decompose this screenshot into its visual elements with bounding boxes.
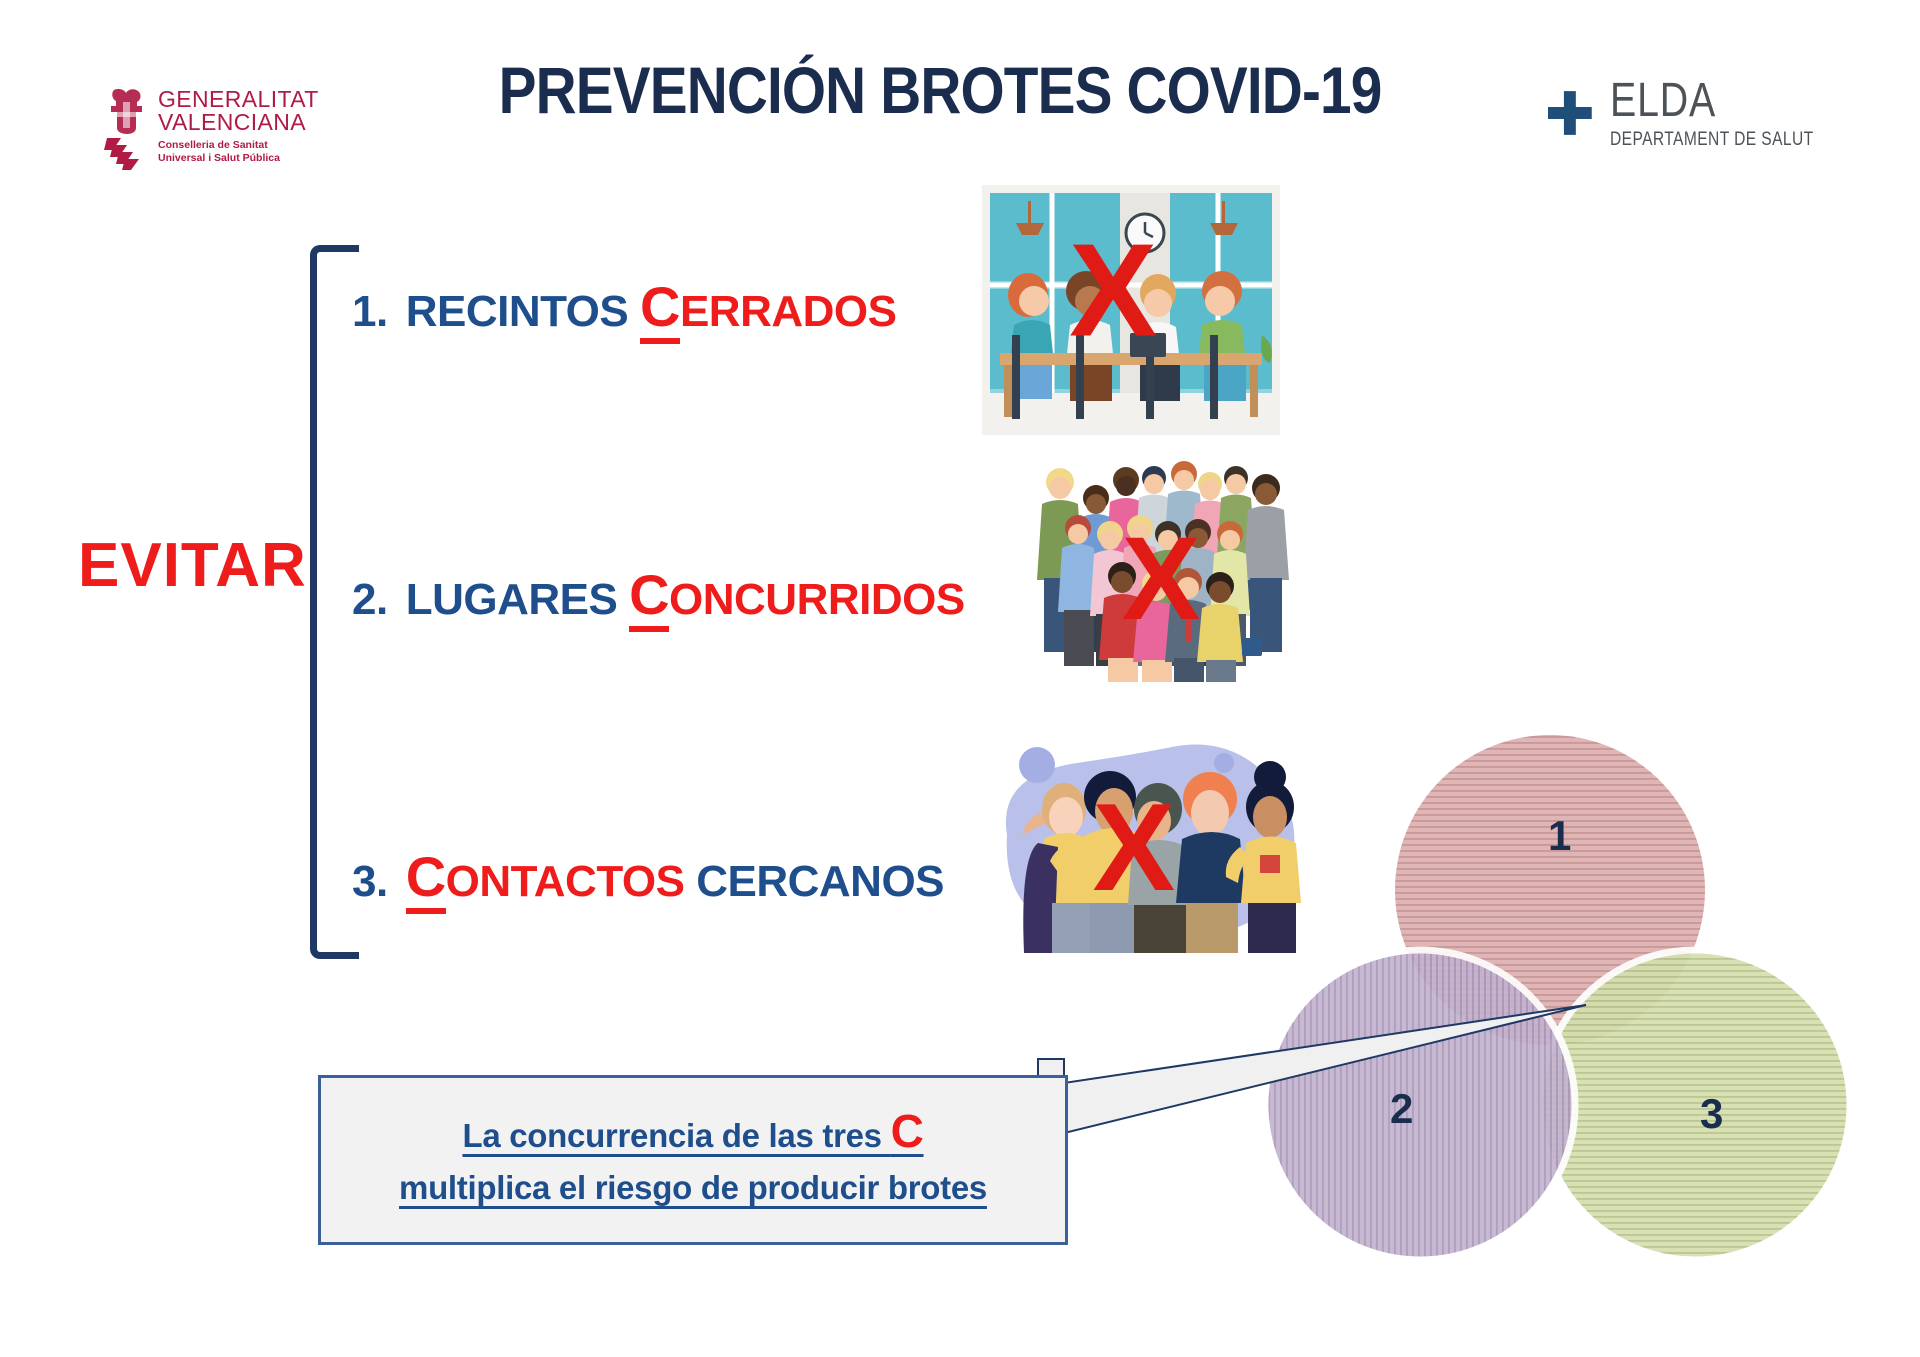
photo-indoor-meeting: X bbox=[982, 185, 1280, 435]
elda-name: ELDA bbox=[1610, 77, 1814, 125]
item-blue-suffix: CERCANOS bbox=[696, 857, 944, 906]
gva-shield-icon bbox=[104, 88, 150, 170]
item-highlight-c: C bbox=[406, 845, 446, 914]
photo-indoor-meeting-illustration bbox=[982, 185, 1280, 435]
venn-label-1: 1 bbox=[1548, 812, 1571, 860]
item-red-rest: ERRADOS bbox=[680, 287, 897, 336]
page-title: PREVENCIÓN BROTES COVID-19 bbox=[476, 52, 1405, 128]
gva-wordmark: GENERALITAT VALENCIANA Conselleria de Sa… bbox=[158, 88, 319, 165]
venn-circle-3 bbox=[1540, 950, 1850, 1260]
venn-label-2: 2 bbox=[1390, 1085, 1413, 1133]
callout-line-2: multiplica el riesgo de producir brotes bbox=[399, 1169, 987, 1207]
generalitat-valenciana-logo: GENERALITAT VALENCIANA Conselleria de Sa… bbox=[104, 88, 334, 178]
photo-crowd: X bbox=[1022, 448, 1300, 686]
venn-diagram bbox=[1240, 690, 1920, 1290]
elda-subtitle: DEPARTAMENT DE SALUT bbox=[1610, 130, 1814, 149]
list-item: 1.RECINTOS CERRADOS bbox=[352, 282, 896, 337]
venn-label-3: 3 bbox=[1700, 1090, 1723, 1138]
venn-circle-2 bbox=[1265, 950, 1575, 1260]
item-highlight-c: C bbox=[640, 275, 680, 344]
evitar-label: EVITAR bbox=[78, 530, 307, 601]
callout-line-1: La concurrencia de las tres C bbox=[462, 1113, 923, 1155]
item-number: 2. bbox=[352, 575, 388, 624]
blue-cross-icon bbox=[1548, 69, 1592, 157]
photo-crowd-illustration bbox=[1022, 448, 1300, 686]
callout-box: La concurrencia de las tres C multiplica… bbox=[318, 1075, 1068, 1245]
gva-subtitle-line-2: Universal i Salut Pública bbox=[158, 152, 319, 165]
item-number: 3. bbox=[352, 857, 388, 906]
item-blue-prefix: LUGARES bbox=[406, 575, 618, 624]
gva-subtitle-line-1: Conselleria de Sanitat bbox=[158, 139, 319, 152]
item-red-rest: ONCURRIDOS bbox=[669, 575, 965, 624]
item-red-rest: ONTACTOS bbox=[446, 857, 685, 906]
item-blue-prefix: RECINTOS bbox=[406, 287, 629, 336]
item-number: 1. bbox=[352, 287, 388, 336]
elda-logo: ELDA DEPARTAMENT DE SALUT bbox=[1548, 58, 1858, 168]
callout-highlight-c: C bbox=[891, 1105, 924, 1157]
callout-line-1-text: La concurrencia de las tres bbox=[462, 1117, 890, 1154]
list-item: 2.LUGARES CONCURRIDOS bbox=[352, 570, 965, 625]
elda-text-block: ELDA DEPARTAMENT DE SALUT bbox=[1610, 77, 1858, 149]
gva-line-2: VALENCIANA bbox=[158, 111, 319, 134]
item-highlight-c: C bbox=[629, 563, 669, 632]
gva-line-1: GENERALITAT bbox=[158, 88, 319, 111]
list-item: 3.CONTACTOS CERCANOS bbox=[352, 852, 944, 907]
